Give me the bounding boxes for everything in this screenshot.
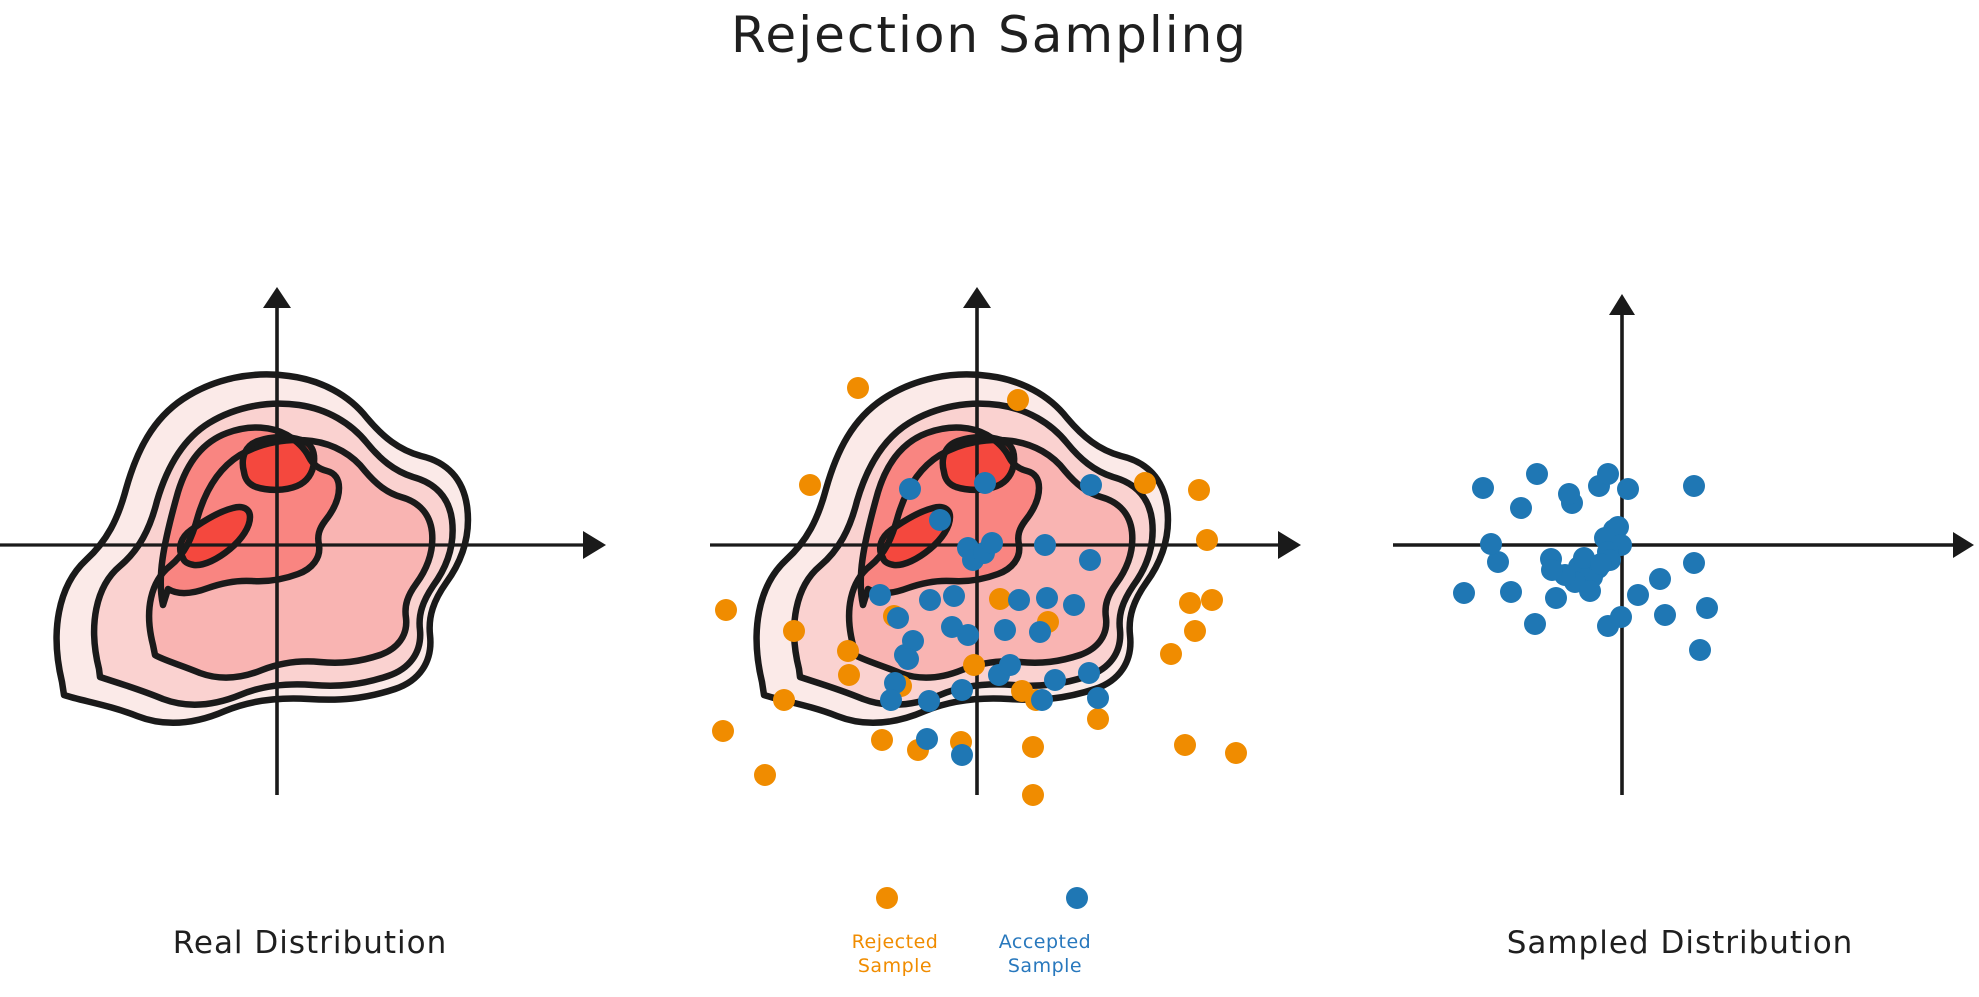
caption-real-distribution: Real Distribution [0,925,620,961]
caption-sampled-distribution: Sampled Distribution [1370,925,1979,961]
legend-dot-rejected[interactable] [876,887,898,909]
legend-label-accepted: Accepted Sample [945,930,1145,978]
legend-dot-accepted[interactable] [1066,887,1088,909]
figure-canvas: Rejection Sampling [0,0,1979,997]
legend [0,0,1979,997]
